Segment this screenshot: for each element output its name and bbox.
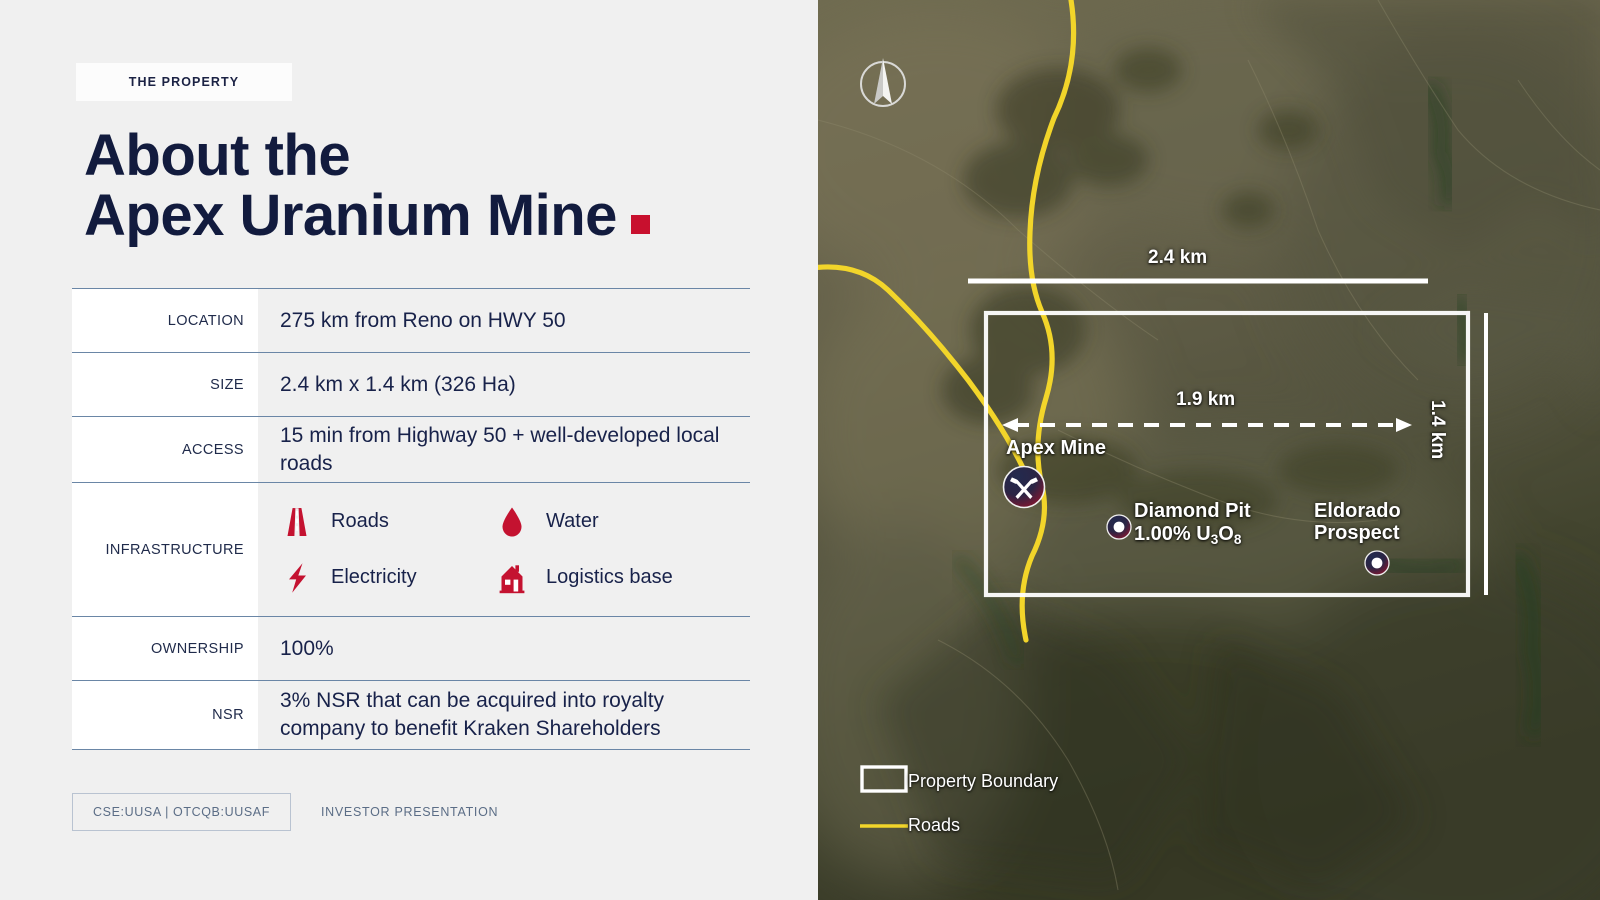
- page-title-line2: Apex Uranium Mine: [84, 186, 617, 246]
- water-drop-icon: [495, 505, 529, 539]
- spec-label: INFRASTRUCTURE: [72, 483, 258, 616]
- page-title-line1: About the: [84, 123, 350, 188]
- spec-label: SIZE: [72, 353, 258, 416]
- accent-square-icon: [631, 215, 650, 234]
- table-row: SIZE 2.4 km x 1.4 km (326 Ha): [72, 352, 750, 416]
- infrastructure-item-electricity: Electricity: [280, 561, 495, 595]
- table-row: ACCESS 15 min from Highway 50 + well-dev…: [72, 416, 750, 482]
- infrastructure-item-water: Water: [495, 505, 750, 539]
- spec-value: 15 min from Highway 50 + well-developed …: [258, 417, 750, 482]
- marker-eldorado-prospect: [1365, 551, 1389, 575]
- infrastructure-item-label: Logistics base: [546, 564, 673, 590]
- page-title: About the Apex Uranium Mine: [84, 126, 650, 247]
- table-row: LOCATION 275 km from Reno on HWY 50: [72, 288, 750, 352]
- infrastructure-grid: Roads Water: [258, 495, 750, 605]
- table-row: NSR 3% NSR that can be acquired into roy…: [72, 680, 750, 750]
- infrastructure-item-label: Roads: [331, 508, 389, 534]
- spec-value: Roads Water: [258, 483, 750, 616]
- table-row: OWNERSHIP 100%: [72, 616, 750, 680]
- road-icon: [280, 505, 314, 539]
- investor-presentation-label: INVESTOR PRESENTATION: [321, 805, 498, 819]
- spec-label: OWNERSHIP: [72, 617, 258, 680]
- marker-diamond-pit: [1107, 515, 1131, 539]
- spec-value: 2.4 km x 1.4 km (326 Ha): [258, 353, 750, 416]
- section-eyebrow-label: THE PROPERTY: [129, 75, 239, 89]
- marker-apex-mine: [1004, 467, 1045, 508]
- slide-root: THE PROPERTY About the Apex Uranium Mine…: [0, 0, 1600, 900]
- infrastructure-item-roads: Roads: [280, 505, 495, 539]
- lightning-bolt-icon: [280, 561, 314, 595]
- ticker-badge: CSE:UUSA | OTCQB:UUSAF: [72, 793, 291, 831]
- footer: CSE:UUSA | OTCQB:UUSAF INVESTOR PRESENTA…: [72, 793, 498, 831]
- infrastructure-item-label: Water: [546, 508, 599, 534]
- spec-label: ACCESS: [72, 417, 258, 482]
- infrastructure-item-label: Electricity: [331, 564, 417, 590]
- spec-label: NSR: [72, 681, 258, 749]
- left-content-panel: THE PROPERTY About the Apex Uranium Mine…: [0, 0, 818, 900]
- spec-value: 275 km from Reno on HWY 50: [258, 289, 750, 352]
- section-eyebrow-badge: THE PROPERTY: [76, 63, 292, 101]
- satellite-map-panel[interactable]: 2.4 km 1.9 km 1.4 km Apex Mine Diamond P…: [818, 0, 1600, 900]
- spec-value: 100%: [258, 617, 750, 680]
- spec-label: LOCATION: [72, 289, 258, 352]
- infrastructure-item-logistics: Logistics base: [495, 561, 750, 595]
- house-icon: [495, 561, 529, 595]
- spec-value: 3% NSR that can be acquired into royalty…: [258, 681, 750, 749]
- property-spec-table: LOCATION 275 km from Reno on HWY 50 SIZE…: [72, 288, 750, 750]
- ticker-label: CSE:UUSA | OTCQB:UUSAF: [93, 805, 270, 819]
- map-imagery: [818, 0, 1600, 900]
- table-row: INFRASTRUCTURE: [72, 482, 750, 616]
